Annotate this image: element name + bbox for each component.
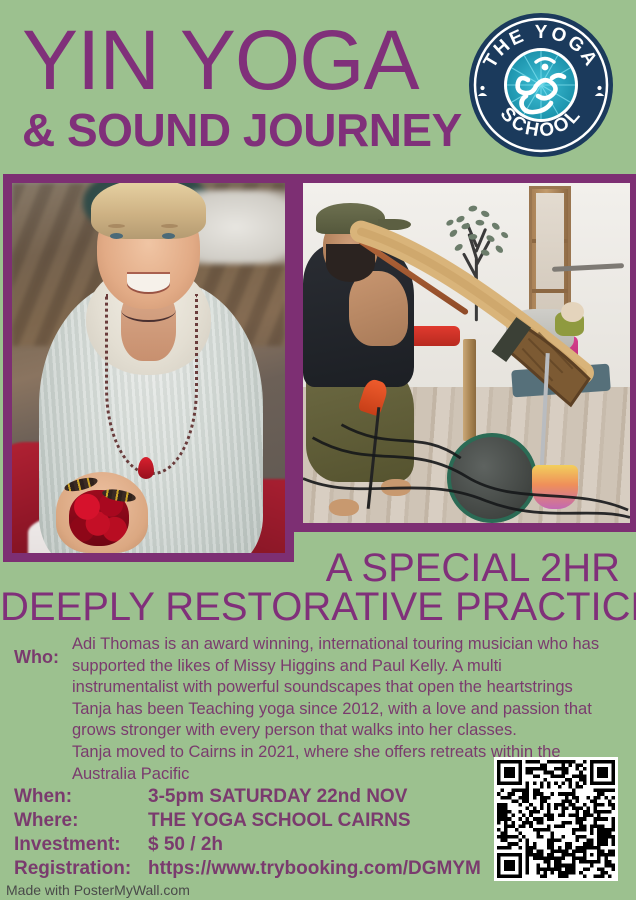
photo-teacher-frame xyxy=(3,174,294,562)
who-line: grows stronger with every person that wa… xyxy=(72,720,582,742)
photo-teacher xyxy=(12,183,285,553)
detail-value-when: 3-5pm SATURDAY 22nd NOV xyxy=(148,786,407,808)
eyebrow-left xyxy=(108,224,125,228)
white-blur xyxy=(192,190,285,264)
yoga-school-logo: THE YOGA SCHOOL xyxy=(466,10,616,160)
detail-label-where: Where: xyxy=(14,810,148,832)
detail-label-when: When: xyxy=(14,786,148,808)
page-title: YIN YOGA xyxy=(22,14,419,106)
detail-row-where: Where: THE YOGA SCHOOL CAIRNS xyxy=(14,810,484,834)
who-line: supported the likes of Missy Higgins and… xyxy=(72,656,582,678)
detail-value-where: THE YOGA SCHOOL CAIRNS xyxy=(148,810,411,832)
postermywall-watermark: Made with PosterMyWall.com xyxy=(6,882,190,898)
who-label: Who: xyxy=(14,647,59,668)
eyebrow-right xyxy=(161,224,178,228)
eye-right xyxy=(162,233,175,239)
page-subtitle: & SOUND JOURNEY xyxy=(22,104,462,156)
detail-row-when: When: 3-5pm SATURDAY 22nd NOV xyxy=(14,786,484,810)
detail-value-investment: $ 50 / 2h xyxy=(148,834,223,856)
poster-canvas: YIN YOGA & SOUND JOURNEY xyxy=(0,0,636,900)
event-details: When: 3-5pm SATURDAY 22nd NOV Where: THE… xyxy=(14,786,484,882)
who-line: instrumentalist with powerful soundscape… xyxy=(72,677,582,699)
detail-label-registration: Registration: xyxy=(14,858,148,880)
detail-label-investment: Investment: xyxy=(14,834,148,856)
cables xyxy=(303,421,630,523)
photo-musician-frame xyxy=(294,174,636,532)
detail-row-investment: Investment: $ 50 / 2h xyxy=(14,834,484,858)
hair xyxy=(91,183,206,239)
registration-link[interactable]: https://www.trybooking.com/DGMYM xyxy=(148,858,481,880)
mala-beads xyxy=(105,294,198,475)
qr-code[interactable] xyxy=(494,757,618,881)
who-line: Adi Thomas is an award winning, internat… xyxy=(72,634,582,656)
photo-musician xyxy=(303,183,630,523)
didgeridoo xyxy=(355,217,597,428)
subhead-line-2: DEEPLY RESTORATIVE PRACTICE xyxy=(0,584,626,630)
red-pendant xyxy=(138,457,154,479)
detail-row-registration: Registration: https://www.trybooking.com… xyxy=(14,858,484,882)
who-line: Tanja has been Teaching yoga since 2012,… xyxy=(72,699,582,721)
